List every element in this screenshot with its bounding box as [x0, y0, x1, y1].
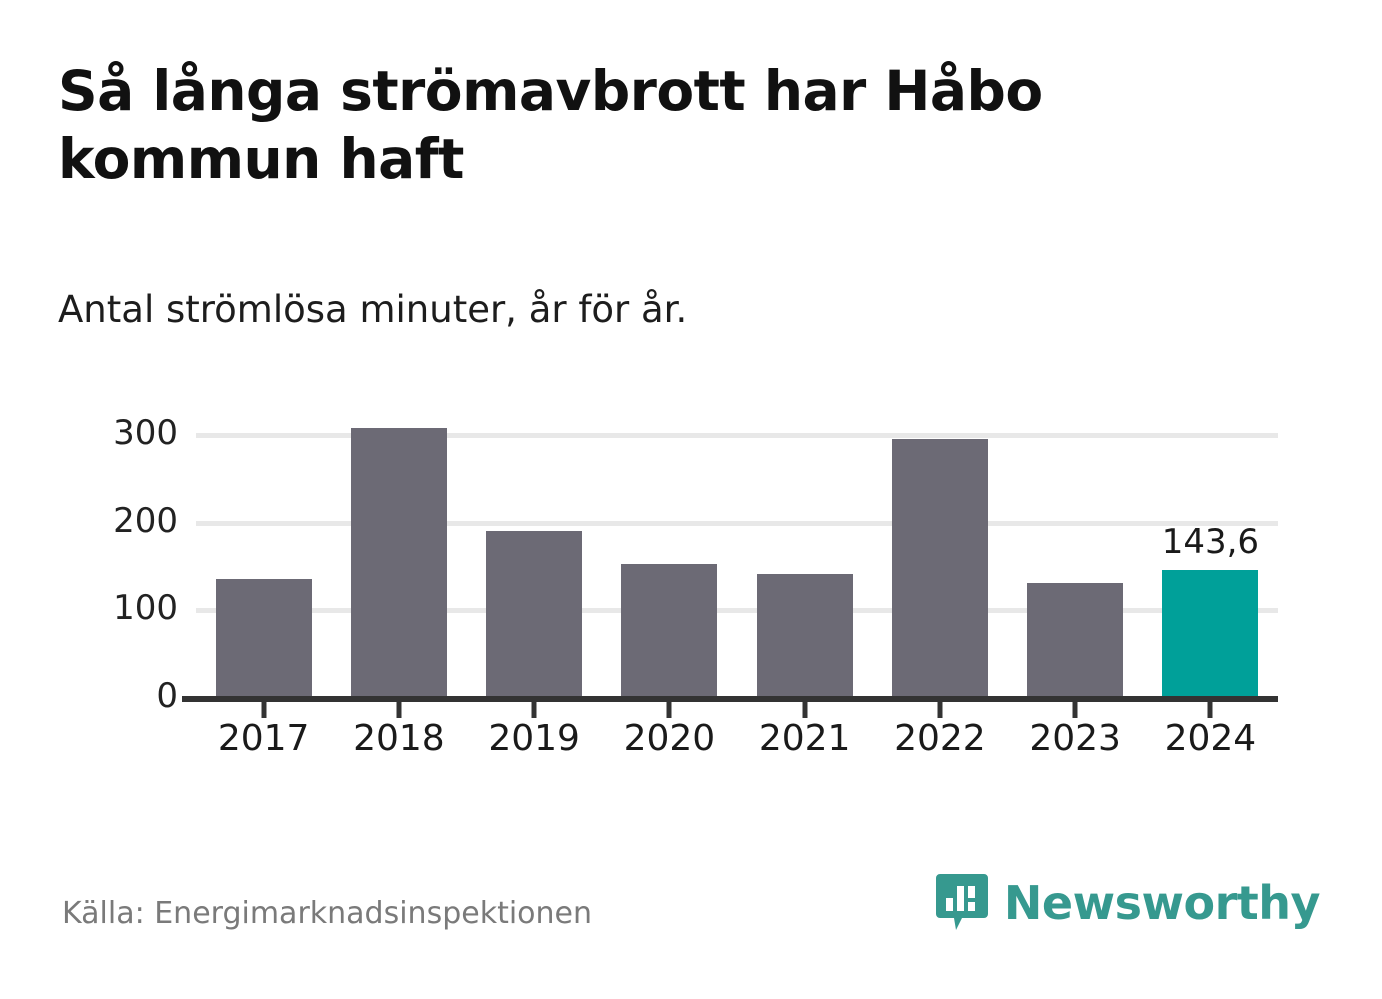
x-axis-label-2024: 2024 — [1143, 718, 1278, 759]
y-axis-tick-label: 200 — [18, 501, 178, 541]
x-axis-label-2023: 2023 — [1008, 718, 1143, 759]
x-axis-label-2018: 2018 — [331, 718, 466, 759]
bar-slot — [331, 420, 466, 696]
newsworthy-logo[interactable]: Newsworthy — [934, 872, 1320, 934]
x-axis-tick — [1208, 702, 1213, 718]
x-axis-tick — [396, 702, 401, 718]
x-axis-tick — [532, 702, 537, 718]
bar-value-label: 143,6 — [1162, 522, 1259, 562]
y-axis-tick-label: 300 — [18, 413, 178, 453]
x-axis-tick — [667, 702, 672, 718]
bar-2024[interactable]: 143,6 — [1162, 570, 1258, 696]
bar-2020[interactable] — [621, 564, 717, 696]
bar-series: 143,6 — [196, 420, 1278, 696]
bar-chart: 0100200300 143,6 20172018201920202021202… — [0, 0, 1382, 999]
bar-slot — [467, 420, 602, 696]
bar-slot — [872, 420, 1007, 696]
bar-slot — [1008, 420, 1143, 696]
y-axis-tick-label: 100 — [18, 588, 178, 628]
x-axis-label-2021: 2021 — [737, 718, 872, 759]
x-axis-label-2019: 2019 — [467, 718, 602, 759]
source-note: Källa: Energimarknadsinspektionen — [62, 896, 592, 931]
x-axis-labels: 20172018201920202021202220232024 — [196, 718, 1278, 759]
x-axis-tick — [1073, 702, 1078, 718]
x-axis-tick — [802, 702, 807, 718]
bar-2021[interactable] — [757, 574, 853, 696]
bar-slot — [196, 420, 331, 696]
x-axis-label-2020: 2020 — [602, 718, 737, 759]
bar-2017[interactable] — [216, 579, 312, 696]
plot-area: 0100200300 143,6 — [196, 420, 1278, 696]
x-axis-label-2022: 2022 — [872, 718, 1007, 759]
bar-2018[interactable] — [351, 428, 447, 696]
speech-bubble-bar-chart-icon — [934, 872, 990, 934]
x-axis-tick — [261, 702, 266, 718]
bar-slot — [602, 420, 737, 696]
bar-2022[interactable] — [892, 439, 988, 696]
x-axis-line — [182, 696, 1278, 702]
x-axis-tick — [937, 702, 942, 718]
y-axis-tick-label: 0 — [18, 676, 178, 716]
x-axis-label-2017: 2017 — [196, 718, 331, 759]
bar-slot — [737, 420, 872, 696]
bar-slot: 143,6 — [1143, 420, 1278, 696]
bar-2019[interactable] — [486, 531, 582, 696]
chart-page: Så långa strömavbrott har Håbo kommun ha… — [0, 0, 1382, 999]
bar-2023[interactable] — [1027, 583, 1123, 696]
logo-wordmark: Newsworthy — [1004, 880, 1320, 926]
